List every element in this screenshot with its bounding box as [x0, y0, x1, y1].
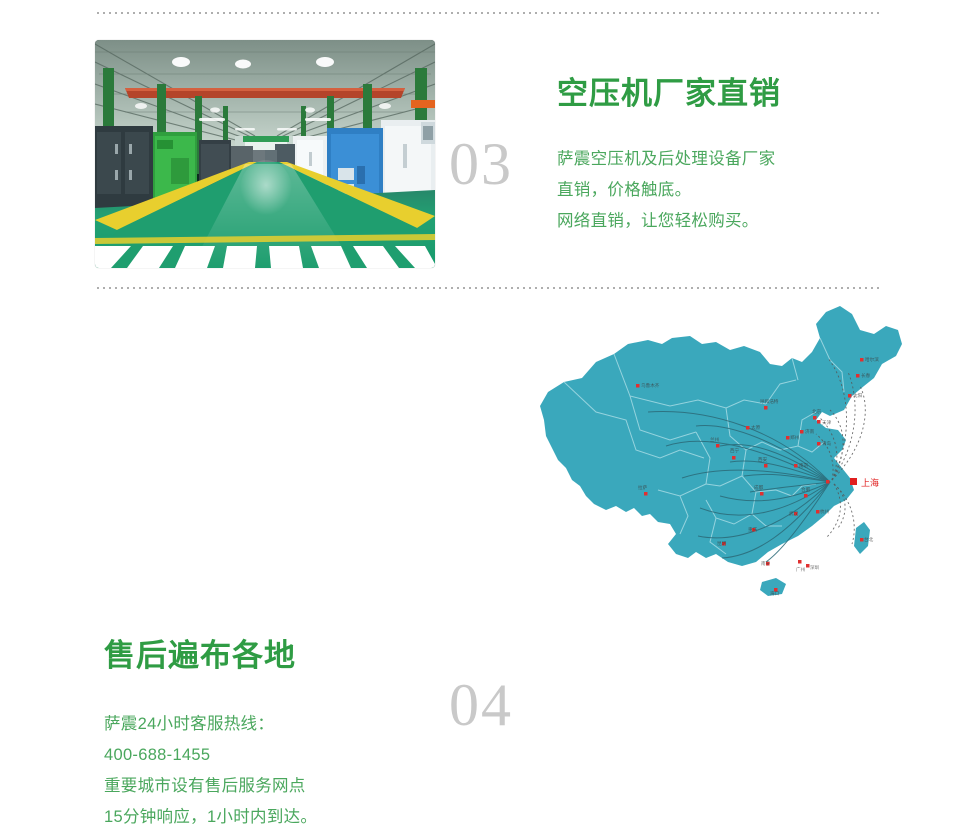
section-number-04: 04 — [449, 675, 513, 735]
svg-text:郑州: 郑州 — [790, 434, 800, 441]
svg-text:哈尔滨: 哈尔滨 — [865, 356, 879, 363]
svg-text:北京: 北京 — [812, 408, 822, 415]
divider-middle — [95, 287, 880, 289]
section-headline-04: 售后遍布各地 — [104, 640, 296, 671]
body-line: 直销，价格触底。 — [557, 175, 775, 206]
svg-text:太原: 太原 — [751, 424, 761, 431]
svg-text:重庆: 重庆 — [748, 526, 758, 533]
svg-text:广州: 广州 — [796, 566, 806, 573]
factory-photo-svg — [95, 40, 435, 268]
svg-text:兰州: 兰州 — [710, 436, 720, 442]
hub-label: 上海 — [861, 477, 879, 488]
section-number-03: 03 — [449, 134, 513, 194]
svg-text:长春: 长春 — [861, 372, 871, 379]
section-03: 03 空压机厂家直销 萨震空压机及后处理设备厂家 直销，价格触底。 网络直销，让… — [0, 30, 960, 280]
svg-text:杭州: 杭州 — [820, 508, 830, 515]
divider-top — [95, 12, 880, 14]
body-line: 重要城市设有售后服务网点 — [104, 771, 317, 802]
factory-workshop-photo — [95, 40, 435, 268]
china-service-map: 上海 乌鲁木齐 哈尔滨 长春 沈阳 北京 天津 呼和浩特 太原 济南 郑州 青岛… — [530, 300, 950, 612]
svg-text:南宁: 南宁 — [761, 560, 771, 566]
section-04: 售后遍布各地 萨震24小时客服热线： 400-688-1455 重要城市设有售后… — [0, 300, 960, 618]
body-line: 萨震24小时客服热线： — [104, 709, 317, 740]
svg-text:南京: 南京 — [799, 462, 809, 469]
svg-text:武汉: 武汉 — [789, 510, 799, 517]
svg-text:沈阳: 沈阳 — [853, 392, 863, 399]
svg-text:合肥: 合肥 — [801, 486, 811, 493]
svg-text:拉萨: 拉萨 — [638, 484, 648, 491]
svg-text:乌鲁木齐: 乌鲁木齐 — [641, 382, 660, 389]
svg-text:海口: 海口 — [770, 590, 780, 597]
svg-text:深圳: 深圳 — [810, 564, 820, 571]
svg-text:青岛: 青岛 — [822, 440, 832, 447]
china-map-svg: 上海 乌鲁木齐 哈尔滨 长春 沈阳 北京 天津 呼和浩特 太原 济南 郑州 青岛… — [530, 300, 950, 612]
svg-text:成都: 成都 — [754, 484, 764, 491]
hub-marker-shanghai: 上海 — [850, 477, 879, 488]
section-body-03: 萨震空压机及后处理设备厂家 直销，价格触底。 网络直销，让您轻松购买。 — [557, 144, 775, 237]
body-line: 萨震空压机及后处理设备厂家 — [557, 144, 775, 175]
svg-text:济南: 济南 — [805, 428, 815, 435]
svg-text:台北: 台北 — [864, 536, 874, 543]
svg-text:天津: 天津 — [822, 419, 832, 426]
section-headline-03: 空压机厂家直销 — [557, 78, 781, 109]
svg-text:呼和浩特: 呼和浩特 — [760, 398, 779, 405]
body-line: 网络直销，让您轻松购买。 — [557, 206, 775, 237]
section-body-04: 萨震24小时客服热线： 400-688-1455 重要城市设有售后服务网点 15… — [104, 709, 317, 833]
hotline-number: 400-688-1455 — [104, 740, 317, 771]
body-line: 15分钟响应，1小时内到达。 — [104, 802, 317, 833]
svg-text:西宁: 西宁 — [730, 447, 740, 454]
svg-text:西安: 西安 — [758, 456, 768, 463]
